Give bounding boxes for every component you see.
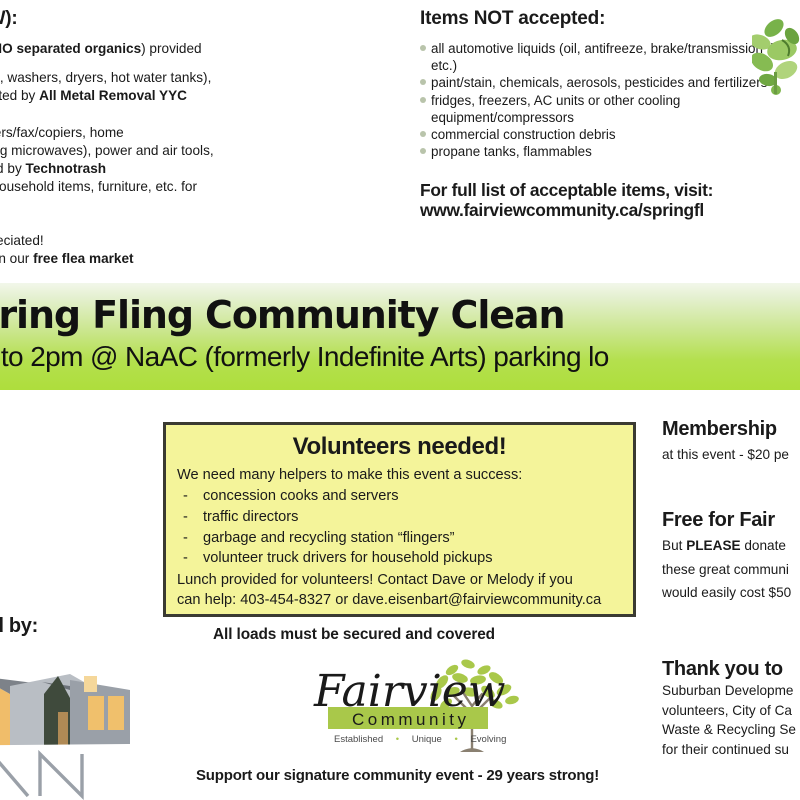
- text-line: /glass): [0, 106, 418, 124]
- support-tagline: Support our signature community event - …: [196, 767, 599, 784]
- suburban-developments-logo: TS: [0, 650, 152, 800]
- event-title: rview Spring Fling Community Clean: [0, 293, 800, 337]
- volunteers-contact-line1: Lunch provided for volunteers! Contact D…: [177, 570, 622, 590]
- list-item: fridges, freezers, AC units or other coo…: [420, 92, 800, 126]
- text-line: volunteers, City of Ca: [662, 701, 800, 721]
- volunteers-intro: We need many helpers to make this event …: [177, 465, 622, 485]
- text-line: d auto parts collected by All Metal Remo…: [0, 87, 418, 105]
- thank-you-column: Thank you to Suburban Developmevolunteer…: [662, 658, 800, 759]
- text-line: these great communi: [662, 560, 800, 580]
- community-word: Community: [352, 710, 469, 729]
- text-line: Waste & Recycling Se: [662, 720, 800, 740]
- not-accepted-list: all automotive liquids (oil, antifreeze,…: [420, 40, 800, 161]
- spacer: [0, 58, 418, 69]
- list-item: concession cooks and servers: [177, 486, 622, 507]
- list-item: commercial construction debris: [420, 126, 800, 143]
- fairview-tags: Established • Unique • Evolving: [334, 734, 506, 745]
- volunteers-list: concession cooks and serverstraffic dire…: [177, 486, 622, 569]
- thank-you-heading: Thank you to: [662, 658, 800, 681]
- text-line: Suburban Developme: [662, 681, 800, 701]
- visit-label: For full list of acceptable items, visit…: [420, 180, 800, 201]
- accepted-items-column: ASE REVIEW): usehold rubbish (NO separat…: [0, 8, 418, 268]
- thank-you-lines: Suburban Developmevolunteers, City of Ca…: [662, 681, 800, 759]
- text-line: But PLEASE donate: [662, 536, 800, 556]
- not-accepted-column: Items NOT accepted: all automotive liqui…: [420, 8, 800, 221]
- spacer: [662, 464, 800, 509]
- list-item: paint/stain, chemicals, aerosols, pestic…: [420, 74, 800, 91]
- event-banner: rview Spring Fling Community Clean 3rd, …: [0, 283, 800, 390]
- text-line: for their continued su: [662, 740, 800, 760]
- bottom-section: TS: [0, 640, 800, 800]
- visit-url[interactable]: www.fairviewcommunity.ca/springfl: [420, 200, 800, 221]
- volunteers-box: Volunteers needed! We need many helpers …: [163, 422, 636, 617]
- free-for-heading: Free for Fair: [662, 509, 800, 532]
- membership-subtitle: at this event - $20 pe: [662, 445, 800, 464]
- accepted-lines: usehold rubbish (NO separated organics) …: [0, 40, 418, 268]
- text-line: ies, linens, small household items, furn…: [0, 178, 418, 196]
- free-for-lines: But PLEASE donatethese great communiwoul…: [662, 536, 800, 603]
- text-line: nd cables collected by Technotrash: [0, 160, 418, 178]
- event-details: 3rd, 9am to 2pm @ NaAC (formerly Indefin…: [0, 341, 800, 373]
- list-item: traffic directors: [177, 507, 622, 528]
- sponsored-by-heading: y sponsored by:: [0, 615, 38, 638]
- visit-url-block: For full list of acceptable items, visit…: [420, 180, 800, 222]
- not-accepted-heading: Items NOT accepted:: [420, 8, 800, 30]
- text-line: irates: [0, 214, 418, 232]
- text-line: WINS): [0, 196, 418, 214]
- volunteers-contact-line2[interactable]: can help: 403-454-8327 or dave.eisenbart…: [177, 590, 622, 610]
- list-item: garbage and recycling station “flingers”: [177, 528, 622, 549]
- list-item: all automotive liquids (oil, antifreeze,…: [420, 40, 800, 74]
- membership-column: Membership at this event - $20 pe Free f…: [662, 418, 800, 603]
- text-line: usehold rubbish (NO separated organics) …: [0, 40, 418, 58]
- volunteers-heading: Volunteers needed!: [177, 433, 622, 461]
- text-line: r equipment, printers/fax/copiers, home: [0, 124, 418, 142]
- text-line: recycled and appreciated!: [0, 232, 418, 250]
- membership-heading: Membership: [662, 418, 800, 441]
- top-section: ASE REVIEW): usehold rubbish (NO separat…: [0, 0, 800, 283]
- text-line: would easily cost $50: [662, 583, 800, 603]
- list-item: volunteer truck drivers for household pi…: [177, 548, 622, 569]
- poster-page: ASE REVIEW): usehold rubbish (NO separat…: [0, 0, 800, 800]
- leaf-sprig-icon: [752, 6, 800, 106]
- middle-section: it per household.or emaily.ca to registe…: [0, 390, 800, 640]
- fairview-community-logo: Fairview Community Established • Unique …: [300, 652, 525, 757]
- text-line: ppliances (including microwaves), power …: [0, 142, 418, 160]
- accepted-heading: ASE REVIEW):: [0, 8, 418, 29]
- text-line: order given away in our free flea market: [0, 250, 418, 268]
- text-line: oves, dishwashers, washers, dryers, hot …: [0, 69, 418, 87]
- list-item: propane tanks, flammables: [420, 143, 800, 160]
